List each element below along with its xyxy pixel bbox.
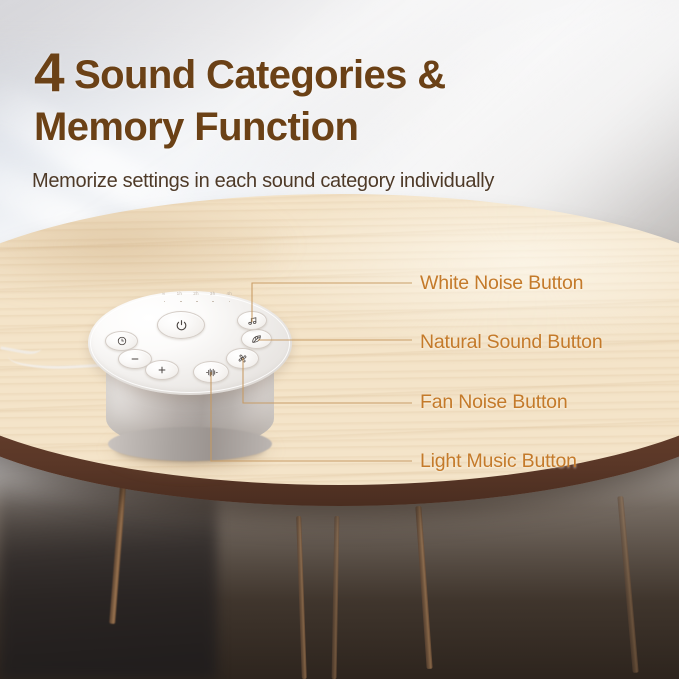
- callout-label-white-noise: White Noise Button: [420, 272, 583, 294]
- headline-number: 4: [34, 41, 64, 103]
- leader-line-light-music: [211, 372, 412, 461]
- headline-line2: Memory Function: [34, 105, 358, 149]
- callout-label-natural-sound: Natural Sound Button: [420, 331, 602, 353]
- page-subheadline: Memorize settings in each sound category…: [32, 168, 592, 194]
- callout-label-light-music: Light Music Button: [420, 450, 577, 472]
- leader-line-white-noise: [252, 283, 412, 322]
- leader-line-fan-noise: [243, 358, 412, 403]
- product-feature-image: ∞ 1h 2h 3h 4h: [0, 0, 679, 679]
- callout-label-fan-noise: Fan Noise Button: [420, 391, 567, 413]
- page-headline: 4 Sound Categories & Memory Function: [34, 46, 554, 153]
- headline-line1: Sound Categories &: [64, 53, 446, 97]
